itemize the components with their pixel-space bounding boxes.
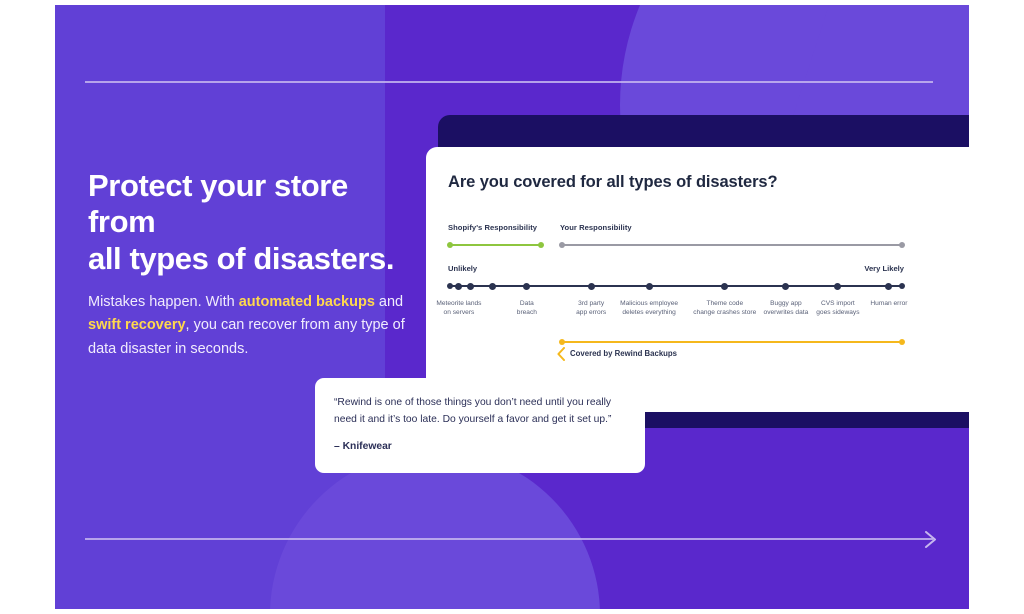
arrow-right-icon bbox=[924, 531, 937, 548]
subcopy-part-1: Mistakes happen. With bbox=[88, 294, 239, 310]
timeline-end-left bbox=[447, 283, 453, 289]
bar-cap-right bbox=[899, 339, 905, 345]
page-title: Protect your store from all types of dis… bbox=[88, 168, 418, 277]
subcopy-highlight-2: swift recovery bbox=[88, 317, 186, 333]
subcopy-part-2: and bbox=[375, 294, 403, 310]
timeline-marker bbox=[588, 283, 595, 290]
bar-cap-right bbox=[899, 242, 905, 248]
scale-label-unlikely: Unlikely bbox=[448, 264, 477, 273]
legend-your-responsibility: Your Responsibility bbox=[560, 223, 632, 232]
timeline-marker bbox=[523, 283, 530, 290]
timeline-marker bbox=[721, 283, 728, 290]
timeline-marker bbox=[782, 283, 789, 290]
legend-shopify-responsibility: Shopify's Responsibility bbox=[448, 223, 537, 232]
timeline-end-right bbox=[899, 283, 905, 289]
bar-cap-left bbox=[559, 242, 565, 248]
bar-covered-by-rewind bbox=[560, 341, 904, 343]
disaster-coverage-card: Are you covered for all types of disaste… bbox=[426, 147, 969, 412]
bottom-divider-rule bbox=[85, 538, 933, 540]
disaster-timeline-axis bbox=[448, 285, 904, 287]
testimonial-card: “Rewind is one of those things you don’t… bbox=[315, 378, 645, 473]
headline-line-1: Protect your store from bbox=[88, 168, 348, 239]
timeline-marker bbox=[467, 283, 474, 290]
card-title: Are you covered for all types of disaste… bbox=[448, 173, 777, 192]
chevron-left-icon bbox=[556, 347, 566, 361]
coverage-label: Covered by Rewind Backups bbox=[570, 349, 677, 358]
subcopy-highlight-1: automated backups bbox=[239, 294, 375, 310]
slide-canvas: Protect your store from all types of dis… bbox=[55, 5, 969, 609]
timeline-marker bbox=[834, 283, 841, 290]
testimonial-attribution: – Knifewear bbox=[334, 441, 626, 452]
bar-cap-left bbox=[447, 242, 453, 248]
timeline-marker bbox=[455, 283, 462, 290]
hero-subcopy: Mistakes happen. With automated backups … bbox=[88, 291, 418, 361]
testimonial-quote: “Rewind is one of those things you don’t… bbox=[334, 395, 626, 428]
timeline-marker-label: Human error bbox=[846, 299, 932, 308]
bar-your-responsibility bbox=[560, 244, 904, 246]
scale-label-very-likely: Very Likely bbox=[864, 264, 904, 273]
hero-copy: Protect your store from all types of dis… bbox=[88, 168, 418, 361]
timeline-marker bbox=[489, 283, 496, 290]
headline-line-2: all types of disasters. bbox=[88, 241, 394, 276]
timeline-marker-label: Malicious employee deletes everything bbox=[606, 299, 692, 318]
top-divider-rule bbox=[85, 81, 933, 83]
timeline-marker bbox=[885, 283, 892, 290]
bar-cap-left bbox=[559, 339, 565, 345]
bar-shopify-responsibility bbox=[448, 244, 543, 246]
bar-cap-right bbox=[538, 242, 544, 248]
timeline-marker bbox=[646, 283, 653, 290]
